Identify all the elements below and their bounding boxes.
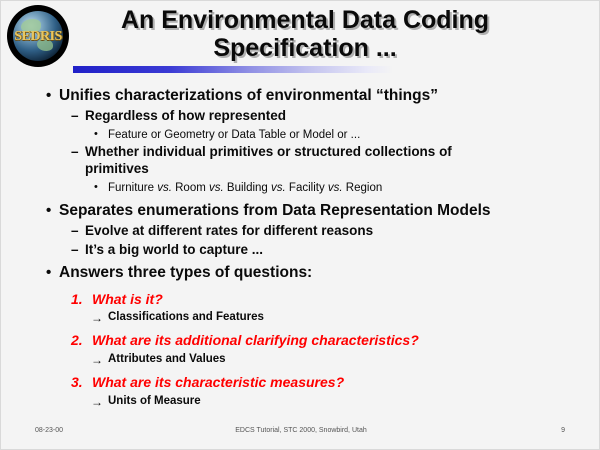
slide-footer: 08-23-00 EDCS Tutorial, STC 2000, Snowbi… [1, 427, 600, 441]
arrow-right-icon: → [91, 395, 103, 409]
question-text: What is it? [92, 291, 163, 308]
answer-text: Classifications and Features [108, 311, 264, 325]
bullet-dot-icon: • [94, 128, 98, 142]
slide-body: • Unifies characterizations of environme… [1, 81, 600, 408]
text-part: Furniture [108, 182, 157, 194]
answer-item: → Attributes and Values [1, 353, 600, 367]
question-item: 1. What is it? [1, 291, 600, 308]
bullet-dot-icon: • [46, 86, 51, 106]
bullet-text: Separates enumerations from Data Represe… [59, 201, 491, 221]
bullet-text: Furniture vs. Room vs. Building vs. Faci… [108, 181, 382, 195]
answer-text: Attributes and Values [108, 353, 226, 367]
bullet-level2: – It’s a big world to capture ... [1, 242, 600, 259]
bullet-text: It’s a big world to capture ... [85, 242, 263, 259]
bullet-level1: • Separates enumerations from Data Repre… [1, 201, 600, 221]
bullet-level1: • Unifies characterizations of environme… [1, 86, 600, 106]
bullet-level3: • Furniture vs. Room vs. Building vs. Fa… [1, 181, 600, 195]
text-part: Region [343, 182, 383, 194]
bullet-level2: – Whether individual primitives or struc… [1, 144, 515, 178]
page-number: 9 [561, 427, 565, 434]
answer-item: → Classifications and Features [1, 311, 600, 325]
text-part: Building [224, 182, 271, 194]
bullet-text: Regardless of how represented [85, 108, 286, 125]
answer-text: Units of Measure [108, 395, 201, 409]
question-number: 2. [71, 332, 83, 349]
page-title: An Environmental Data Coding Specificati… [75, 6, 535, 62]
versus-label: vs. [328, 182, 343, 194]
bullet-text: Answers three types of questions: [59, 263, 312, 283]
bullet-dash-icon: – [71, 144, 79, 161]
bullet-level1: • Answers three types of questions: [1, 263, 600, 283]
question-item: 3. What are its characteristic measures? [1, 374, 600, 391]
bullet-text: Evolve at different rates for different … [85, 223, 373, 240]
bullet-dot-icon: • [94, 181, 98, 195]
bullet-level2: – Evolve at different rates for differen… [1, 223, 600, 240]
question-number: 3. [71, 374, 83, 391]
bullet-level3: • Feature or Geometry or Data Table or M… [1, 128, 600, 142]
text-part: Room [172, 182, 209, 194]
title-divider [73, 66, 393, 73]
bullet-dash-icon: – [71, 108, 79, 125]
arrow-right-icon: → [91, 311, 103, 325]
question-text: What are its additional clarifying chara… [92, 332, 419, 349]
sedris-logo: SEDRIS [7, 5, 69, 67]
bullet-text: Unifies characterizations of environment… [59, 86, 438, 106]
title-line-2: Specification ... [75, 34, 535, 62]
text-part: Facility [286, 182, 328, 194]
slide: SEDRIS An Environmental Data Coding Spec… [0, 0, 600, 450]
bullet-dash-icon: – [71, 242, 79, 259]
footer-event-label: EDCS Tutorial, STC 2000, Snowbird, Utah [1, 427, 600, 434]
versus-label: vs. [209, 182, 224, 194]
versus-label: vs. [271, 182, 286, 194]
question-number: 1. [71, 291, 83, 308]
bullet-dot-icon: • [46, 201, 51, 221]
bullet-text: Whether individual primitives or structu… [85, 144, 515, 178]
arrow-right-icon: → [91, 353, 103, 367]
logo-label: SEDRIS [7, 29, 69, 45]
question-text: What are its characteristic measures? [92, 374, 344, 391]
versus-label: vs. [157, 182, 172, 194]
question-item: 2. What are its additional clarifying ch… [1, 332, 600, 349]
bullet-level2: – Regardless of how represented [1, 108, 600, 125]
title-line-1: An Environmental Data Coding [75, 6, 535, 34]
bullet-text: Feature or Geometry or Data Table or Mod… [108, 128, 360, 142]
answer-item: → Units of Measure [1, 395, 600, 409]
bullet-dot-icon: • [46, 263, 51, 283]
bullet-dash-icon: – [71, 223, 79, 240]
